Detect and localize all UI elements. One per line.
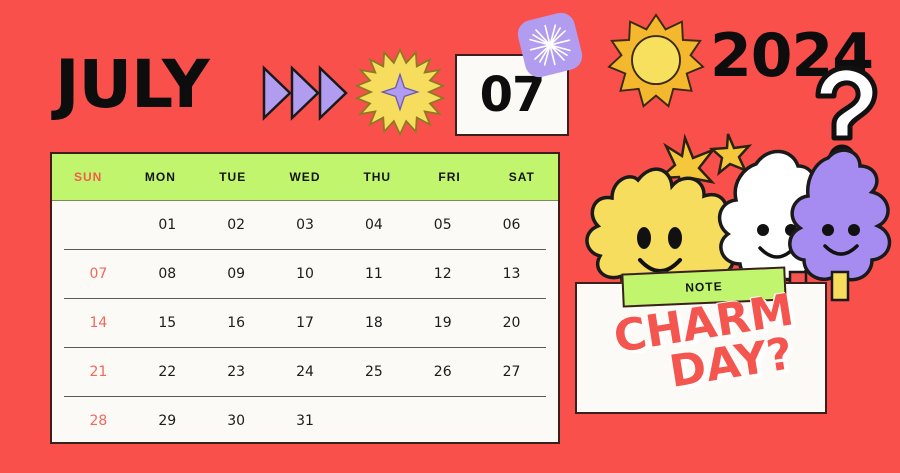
day-cell[interactable]: 28 bbox=[64, 413, 133, 429]
note-tab-label: NOTE bbox=[685, 279, 723, 295]
day-cell[interactable]: 08 bbox=[133, 266, 202, 282]
weekday-fri: FRI bbox=[413, 170, 485, 184]
calendar-week-row: 01 02 03 04 05 06 bbox=[64, 201, 546, 250]
triple-chevron-right-icon bbox=[262, 64, 352, 122]
day-cell[interactable]: 05 bbox=[408, 217, 477, 233]
sparkle-burst-icon bbox=[515, 10, 585, 80]
day-cell[interactable]: 24 bbox=[271, 364, 340, 380]
day-cell[interactable]: 29 bbox=[133, 413, 202, 429]
month-title: JULY bbox=[55, 52, 209, 118]
day-cell[interactable]: 23 bbox=[202, 364, 271, 380]
day-cell[interactable]: 16 bbox=[202, 315, 271, 331]
weekday-sun: SUN bbox=[52, 170, 124, 184]
day-cell[interactable]: 04 bbox=[339, 217, 408, 233]
calendar-week-row: 28 29 30 31 bbox=[64, 397, 546, 445]
day-cell[interactable]: 12 bbox=[408, 266, 477, 282]
day-cell[interactable]: 01 bbox=[133, 217, 202, 233]
day-cell[interactable]: 27 bbox=[477, 364, 546, 380]
note-sticker-illustration: NOTE CHARM DAY? bbox=[560, 120, 900, 473]
calendar-week-row: 21 22 23 24 25 26 27 bbox=[64, 348, 546, 397]
weekday-wed: WED bbox=[269, 170, 341, 184]
calendar-weekday-header: SUN MON TUE WED THU FRI SAT bbox=[52, 154, 558, 201]
day-cell[interactable]: 25 bbox=[339, 364, 408, 380]
day-cell[interactable]: 10 bbox=[271, 266, 340, 282]
weekday-sat: SAT bbox=[486, 170, 558, 184]
day-cell[interactable]: 02 bbox=[202, 217, 271, 233]
calendar-grid: 01 02 03 04 05 06 07 08 09 10 11 12 13 1… bbox=[52, 201, 558, 445]
weekday-mon: MON bbox=[124, 170, 196, 184]
day-cell[interactable]: 07 bbox=[64, 266, 133, 282]
day-cell[interactable]: 21 bbox=[64, 364, 133, 380]
day-cell[interactable]: 30 bbox=[202, 413, 271, 429]
day-cell[interactable]: 31 bbox=[271, 413, 340, 429]
sun-icon bbox=[608, 14, 704, 110]
day-cell[interactable]: 03 bbox=[271, 217, 340, 233]
day-cell[interactable]: 20 bbox=[477, 315, 546, 331]
day-cell[interactable]: 09 bbox=[202, 266, 271, 282]
spiky-sun-icon bbox=[356, 48, 444, 136]
day-cell[interactable]: 13 bbox=[477, 266, 546, 282]
poster-canvas: JULY 07 bbox=[0, 0, 900, 473]
day-cell[interactable]: 26 bbox=[408, 364, 477, 380]
day-cell[interactable]: 19 bbox=[408, 315, 477, 331]
day-cell[interactable]: 22 bbox=[133, 364, 202, 380]
calendar-week-row: 07 08 09 10 11 12 13 bbox=[64, 250, 546, 299]
day-cell[interactable]: 15 bbox=[133, 315, 202, 331]
calendar-week-row: 14 15 16 17 18 19 20 bbox=[64, 299, 546, 348]
day-cell[interactable]: 17 bbox=[271, 315, 340, 331]
weekday-tue: TUE bbox=[197, 170, 269, 184]
weekday-thu: THU bbox=[341, 170, 413, 184]
day-cell[interactable]: 14 bbox=[64, 315, 133, 331]
day-cell[interactable]: 06 bbox=[477, 217, 546, 233]
day-cell[interactable]: 11 bbox=[339, 266, 408, 282]
day-cell[interactable]: 18 bbox=[339, 315, 408, 331]
calendar-card: SUN MON TUE WED THU FRI SAT 01 02 03 04 … bbox=[50, 152, 560, 444]
